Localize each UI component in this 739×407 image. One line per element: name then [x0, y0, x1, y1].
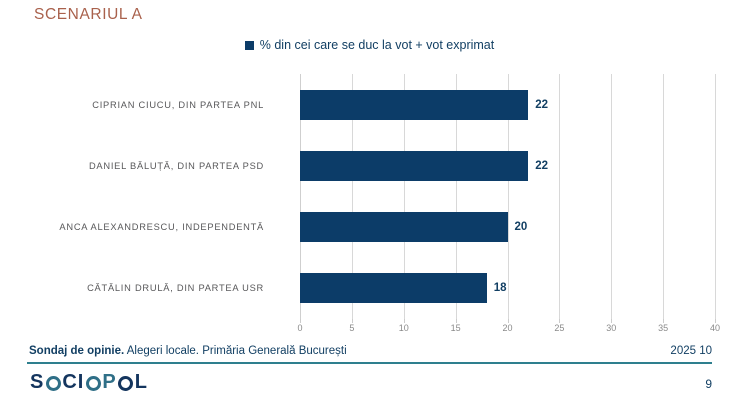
bar[interactable] — [300, 273, 487, 303]
x-axis-tick-label: 35 — [658, 323, 668, 333]
legend-square-marker-icon — [245, 41, 254, 50]
footer-date: 2025 10 — [670, 345, 712, 357]
x-axis-tick-label: 10 — [399, 323, 409, 333]
bar-value-label: 20 — [515, 221, 528, 233]
page-number: 9 — [705, 377, 712, 391]
x-axis-tick-label: 0 — [297, 323, 302, 333]
category-label: CIPRIAN CIUCU, DIN PARTEA PNL — [92, 100, 264, 110]
logo-letter: L — [135, 372, 148, 392]
bar-value-label: 18 — [494, 282, 507, 294]
gridline — [715, 74, 716, 319]
logo-letter: S — [30, 372, 44, 392]
x-axis-tick-label: 15 — [451, 323, 461, 333]
footer-caption-bold: Sondaj de opinie. — [29, 345, 124, 357]
logo-letter: P — [102, 372, 116, 392]
footer-divider — [27, 362, 712, 364]
bar[interactable] — [300, 151, 528, 181]
bar-row: 20ANCA ALEXANDRESCU, INDEPENDENTĂ — [300, 212, 715, 242]
bar-row: 18CĂTĂLIN DRULĂ, DIN PARTEA USR — [300, 273, 715, 303]
footer-caption: Sondaj de opinie. Alegeri locale. Primăr… — [29, 345, 347, 357]
logo-letter: C — [62, 372, 77, 392]
bar-row: 22DANIEL BĂLUȚĂ, DIN PARTEA PSD — [300, 151, 715, 181]
logo-letter: I — [78, 372, 85, 392]
x-axis-tick-label: 40 — [710, 323, 720, 333]
category-label: CĂTĂLIN DRULĂ, DIN PARTEA USR — [87, 283, 264, 293]
legend-item: % din cei care se duc la vot + vot expri… — [245, 38, 495, 52]
x-axis-tick-label: 25 — [554, 323, 564, 333]
sociopol-logo: SCIPL — [30, 372, 148, 392]
bar-value-label: 22 — [535, 99, 548, 111]
logo-letter-o-ring — [86, 376, 101, 391]
category-label: DANIEL BĂLUȚĂ, DIN PARTEA PSD — [89, 161, 264, 171]
legend-label: % din cei care se duc la vot + vot expri… — [260, 38, 495, 52]
bar[interactable] — [300, 212, 508, 242]
bar-row: 22CIPRIAN CIUCU, DIN PARTEA PNL — [300, 90, 715, 120]
chart-legend: % din cei care se duc la vot + vot expri… — [0, 38, 739, 52]
bar[interactable] — [300, 90, 528, 120]
bar-chart: 051015202530354022CIPRIAN CIUCU, DIN PAR… — [0, 66, 739, 326]
x-axis-tick-label: 30 — [606, 323, 616, 333]
plot-area: 051015202530354022CIPRIAN CIUCU, DIN PAR… — [300, 74, 715, 319]
footer-caption-rest: Alegeri locale. Primăria Generală Bucure… — [124, 345, 346, 357]
category-label: ANCA ALEXANDRESCU, INDEPENDENTĂ — [59, 222, 264, 232]
x-axis-tick-label: 5 — [349, 323, 354, 333]
x-axis-tick-label: 20 — [502, 323, 512, 333]
logo-letter-o-ring — [46, 376, 61, 391]
logo-letter-o-ring — [118, 376, 133, 391]
bar-value-label: 22 — [535, 160, 548, 172]
page-title: SCENARIUL A — [34, 6, 143, 24]
